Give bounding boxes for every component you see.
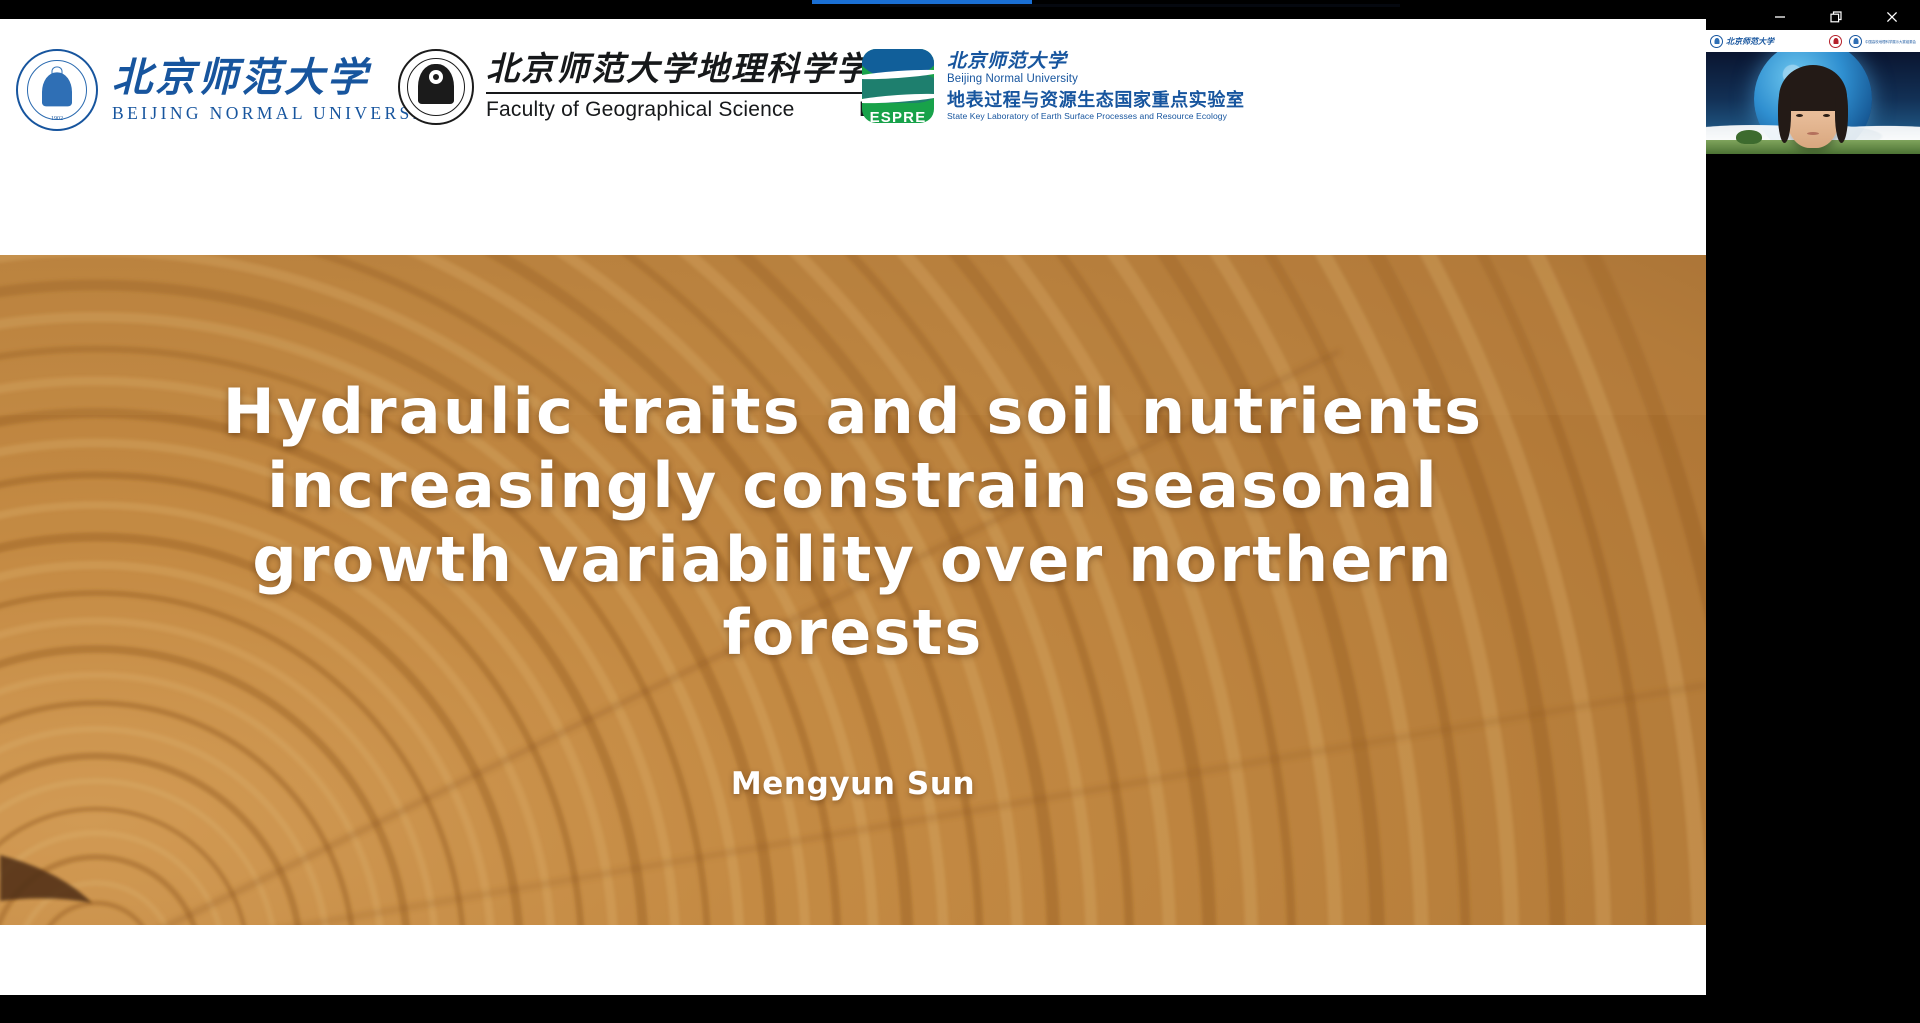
logo-beijing-normal-university: 1902 北京师范大学 BEIJING NORMAL UNIVERSITY: [16, 49, 452, 131]
bnu-bell-icon: [42, 72, 72, 106]
video-stage: 第六届 全国高校地理: [1706, 52, 1920, 154]
slide-logo-bar: 1902 北京师范大学 BEIJING NORMAL UNIVERSITY 北京…: [0, 19, 1706, 255]
fgs-crest-emblem-icon: [418, 64, 454, 104]
espre-university-cn: 北京师范大学: [947, 51, 1245, 72]
restore-icon[interactable]: [1808, 0, 1864, 34]
fgs-name-en: Faculty of Geographical Science: [486, 98, 795, 122]
vt-university-cn: 北京师范大学: [1726, 36, 1774, 47]
espre-wordmark: ESPRE: [862, 109, 934, 123]
fgs-name-cn: 北京师范大学地理科学学部: [486, 52, 906, 87]
espre-lab-en: State Key Laboratory of Earth Surface Pr…: [947, 112, 1245, 121]
app-window: 1902 北京师范大学 BEIJING NORMAL UNIVERSITY 北京…: [0, 0, 1920, 1023]
bnu-crest-icon: 1902: [16, 49, 98, 131]
slide-text-content: Hydraulic traits and soil nutrients incr…: [0, 255, 1706, 925]
window-controls: [1752, 0, 1920, 34]
mouth-icon: [1807, 132, 1819, 135]
espre-university-en: Beijing Normal University: [947, 73, 1245, 85]
vt-bnu-crest-icon: [1710, 35, 1723, 48]
slide-title: Hydraulic traits and soil nutrients incr…: [128, 375, 1578, 670]
espre-mark-icon: ESPRE: [862, 49, 934, 123]
close-icon[interactable]: [1864, 0, 1920, 34]
tree-icon: [1736, 130, 1762, 144]
slide-hero-image: Hydraulic traits and soil nutrients incr…: [0, 255, 1706, 925]
espre-lab-cn: 地表过程与资源生态国家重点实验室: [947, 91, 1245, 110]
participant-avatar: [1786, 74, 1840, 148]
window-accent-bar-secondary: [880, 4, 1400, 7]
eye-left-icon: [1796, 114, 1803, 117]
bnu-crest-year: 1902: [18, 116, 96, 122]
slide-stage[interactable]: 1902 北京师范大学 BEIJING NORMAL UNIVERSITY 北京…: [0, 19, 1706, 995]
eye-right-icon: [1823, 114, 1830, 117]
logo-espre-state-key-laboratory: ESPRE 北京师范大学 Beijing Normal University 地…: [862, 49, 1245, 123]
vt-blue-crest-icon: [1849, 35, 1862, 48]
fgs-divider: [486, 92, 906, 94]
minimize-icon[interactable]: [1752, 0, 1808, 34]
video-virtual-background-header: 北京师范大学 中国高校地理科学展示大赛组委会: [1706, 30, 1920, 52]
participant-video-inner: 北京师范大学 中国高校地理科学展示大赛组委会 第六届 全国高校地理: [1706, 30, 1920, 154]
fgs-crest-icon: [398, 49, 474, 125]
vt-red-crest-icon: [1829, 35, 1842, 48]
participant-video-tile[interactable]: 北京师范大学 中国高校地理科学展示大赛组委会 第六届 全国高校地理: [1706, 30, 1920, 154]
logo-faculty-of-geographical-science: 北京师范大学地理科学学部 Faculty of Geographical Sci…: [398, 49, 906, 125]
slide-author: Mengyun Sun: [731, 766, 975, 802]
vt-committee-text: 中国高校地理科学展示大赛组委会: [1865, 39, 1916, 44]
